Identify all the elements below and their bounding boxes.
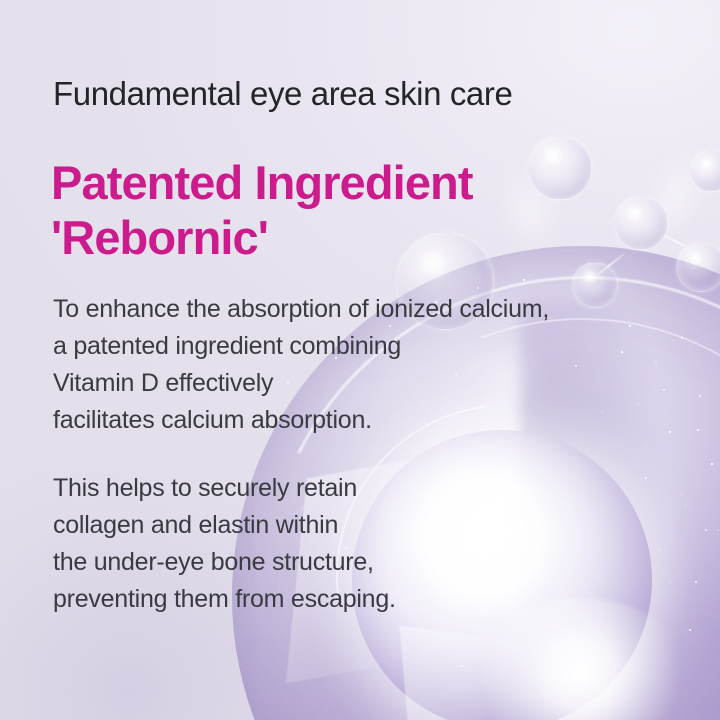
eyebrow-text: Fundamental eye area skin care — [53, 74, 512, 114]
page-title: Patented Ingredient 'Rebornic' — [51, 155, 473, 265]
marketing-banner: Fundamental eye area skin care Patented … — [0, 0, 720, 720]
body-paragraph-1: To enhance the absorption of ionized cal… — [53, 291, 549, 439]
text-content: Fundamental eye area skin care Patented … — [0, 0, 720, 720]
body-paragraph-2: This helps to securely retain collagen a… — [53, 470, 396, 618]
